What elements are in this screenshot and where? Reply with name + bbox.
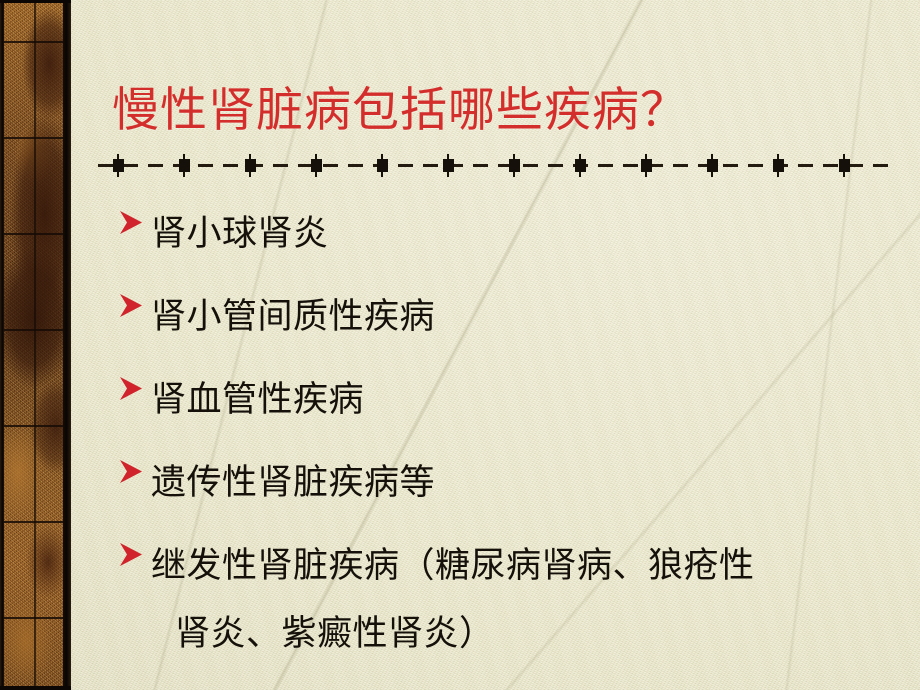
divider-knot-icon <box>377 159 388 172</box>
bullet-list: 肾小球肾炎 肾小管间质性疾病 肾血管性疾病 <box>118 200 898 662</box>
arrowhead-bullet-icon <box>118 538 144 572</box>
divider-knot-icon <box>641 159 652 172</box>
sidebar-right-edge <box>63 0 71 690</box>
divider-knot-icon <box>707 159 718 172</box>
divider-knot-icon <box>113 159 124 172</box>
list-item-label: 遗传性肾脏疾病等 <box>151 449 435 517</box>
list-item-label: 肾小球肾炎 <box>151 200 329 268</box>
divider-knot-icon <box>509 159 520 172</box>
sidebar-grid-line <box>34 2 36 688</box>
divider-knot-icon <box>179 159 190 172</box>
list-item: 肾血管性疾病 <box>118 366 898 449</box>
title-divider <box>98 158 892 174</box>
arrowhead-bullet-icon <box>118 289 144 323</box>
sidebar-left-edge <box>0 0 4 690</box>
list-item: 肾小球肾炎 <box>118 200 898 283</box>
slide-canvas: 慢性肾脏病包括哪些疾病？ 肾小球肾炎 <box>0 0 920 690</box>
list-item-label: 肾血管性疾病 <box>151 366 364 434</box>
arrowhead-bullet-icon <box>118 455 144 489</box>
list-item-label: 继发性肾脏疾病（糖尿病肾病、狼疮性 肾炎、紫癜性肾炎） <box>151 532 755 668</box>
arrowhead-bullet-icon <box>118 372 144 406</box>
divider-knot-icon <box>311 159 322 172</box>
list-item: 继发性肾脏疾病（糖尿病肾病、狼疮性 肾炎、紫癜性肾炎） <box>118 532 898 662</box>
sidebar-top-edge <box>0 0 71 3</box>
divider-knot-icon <box>443 159 454 172</box>
list-item: 遗传性肾脏疾病等 <box>118 449 898 532</box>
list-item-label: 肾小管间质性疾病 <box>151 283 435 351</box>
list-item-label-line1: 继发性肾脏疾病（糖尿病肾病、狼疮性 <box>151 546 755 586</box>
divider-knot-icon <box>575 159 586 172</box>
divider-knot-icon <box>839 159 850 172</box>
list-item-label-line2: 肾炎、紫癜性肾炎） <box>175 600 755 668</box>
divider-knot-icon <box>245 159 256 172</box>
sidebar-texture <box>4 2 67 688</box>
decorative-sidebar-band <box>0 0 71 690</box>
list-item: 肾小管间质性疾病 <box>118 283 898 366</box>
divider-knot-icon <box>773 159 784 172</box>
arrowhead-bullet-icon <box>118 206 144 240</box>
sidebar-bottom-edge <box>0 686 71 690</box>
slide-title: 慢性肾脏病包括哪些疾病？ <box>112 82 688 140</box>
